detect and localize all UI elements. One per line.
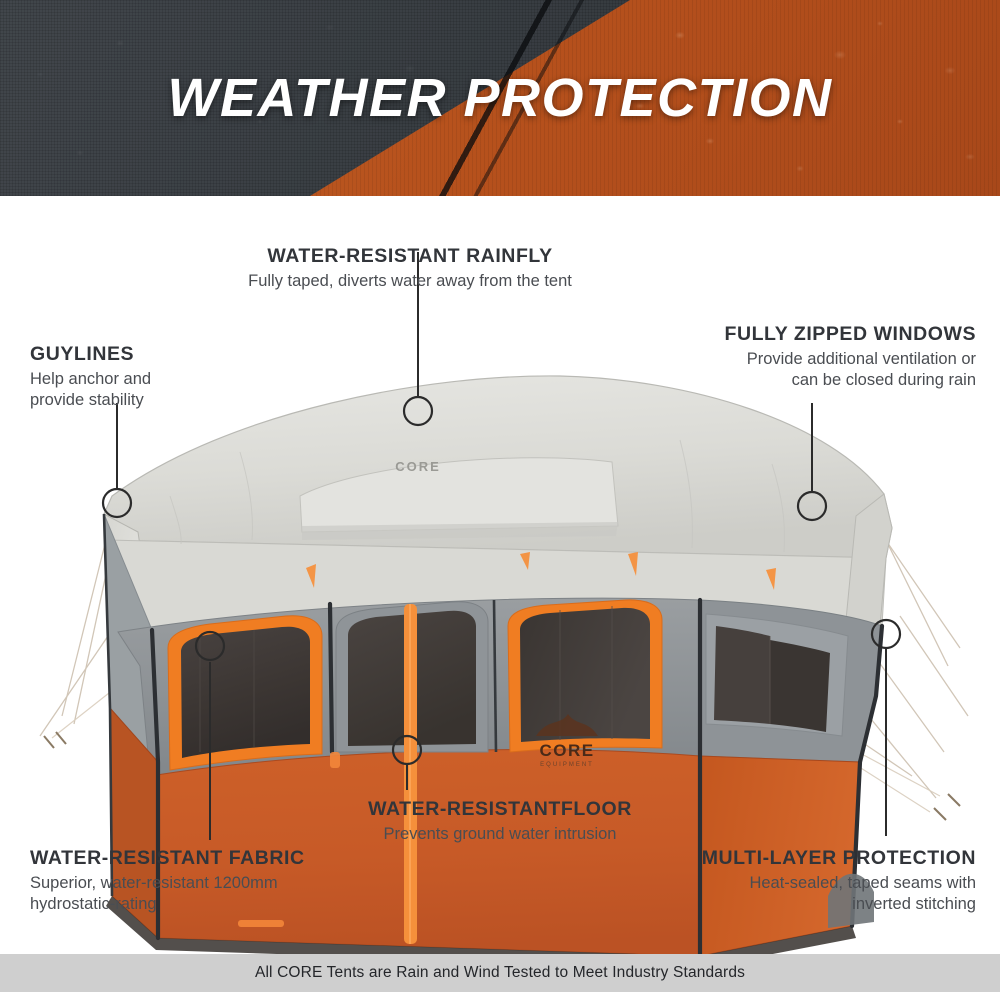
callout-fabric-subtitle-line2: hydrostatic-rating [30, 894, 390, 915]
callout-floor-title: WATER-RESISTANTFLOOR [320, 798, 680, 821]
callout-guylines-subtitle-line2: provide stability [30, 390, 260, 411]
window-side-right [706, 614, 848, 736]
callout-fabric: WATER-RESISTANT FABRIC Superior, water-r… [30, 847, 390, 915]
footer-text: All CORE Tents are Rain and Wind Tested … [255, 964, 745, 982]
callout-floor: WATER-RESISTANTFLOOR Prevents ground wat… [320, 798, 680, 845]
callout-rainfly-title: WATER-RESISTANT RAINFLY [200, 245, 620, 268]
callout-windows-subtitle-line1: Provide additional ventilation or [640, 349, 976, 370]
footer-bar: All CORE Tents are Rain and Wind Tested … [0, 954, 1000, 992]
callout-guylines-subtitle-line1: Help anchor and [30, 369, 260, 390]
callout-guylines: GUYLINES Help anchor and provide stabili… [30, 343, 260, 411]
callout-floor-subtitle: Prevents ground water intrusion [320, 824, 680, 845]
callout-windows: FULLY ZIPPED WINDOWS Provide additional … [640, 323, 976, 391]
svg-text:EQUIPMENT: EQUIPMENT [540, 762, 594, 768]
callout-multilayer-title: MULTI-LAYER PROTECTION [620, 847, 976, 870]
callout-multilayer-subtitle-line2: inverted stitching [620, 894, 976, 915]
window-front-left [168, 616, 322, 770]
callout-windows-title: FULLY ZIPPED WINDOWS [640, 323, 976, 346]
callout-guylines-title: GUYLINES [30, 343, 260, 366]
callout-fabric-title: WATER-RESISTANT FABRIC [30, 847, 390, 870]
callout-multilayer-subtitle-line1: Heat-sealed, taped seams with [620, 873, 976, 894]
svg-text:CORE: CORE [539, 741, 594, 760]
callout-windows-subtitle-line2: can be closed during rain [640, 370, 976, 391]
header-banner: WEATHER PROTECTION [0, 0, 1000, 196]
svg-text:CORE: CORE [395, 459, 441, 474]
callout-rainfly: WATER-RESISTANT RAINFLY Fully taped, div… [200, 245, 620, 292]
infographic-page: WEATHER PROTECTION [0, 0, 1000, 1000]
page-title: WEATHER PROTECTION [0, 67, 1000, 129]
callout-fabric-subtitle-line1: Superior, water-resistant 1200mm [30, 873, 390, 894]
rainfly-core-logo: CORE [395, 459, 441, 474]
callout-rainfly-subtitle: Fully taped, diverts water away from the… [200, 271, 620, 292]
callout-multilayer: MULTI-LAYER PROTECTION Heat-sealed, tape… [620, 847, 976, 915]
